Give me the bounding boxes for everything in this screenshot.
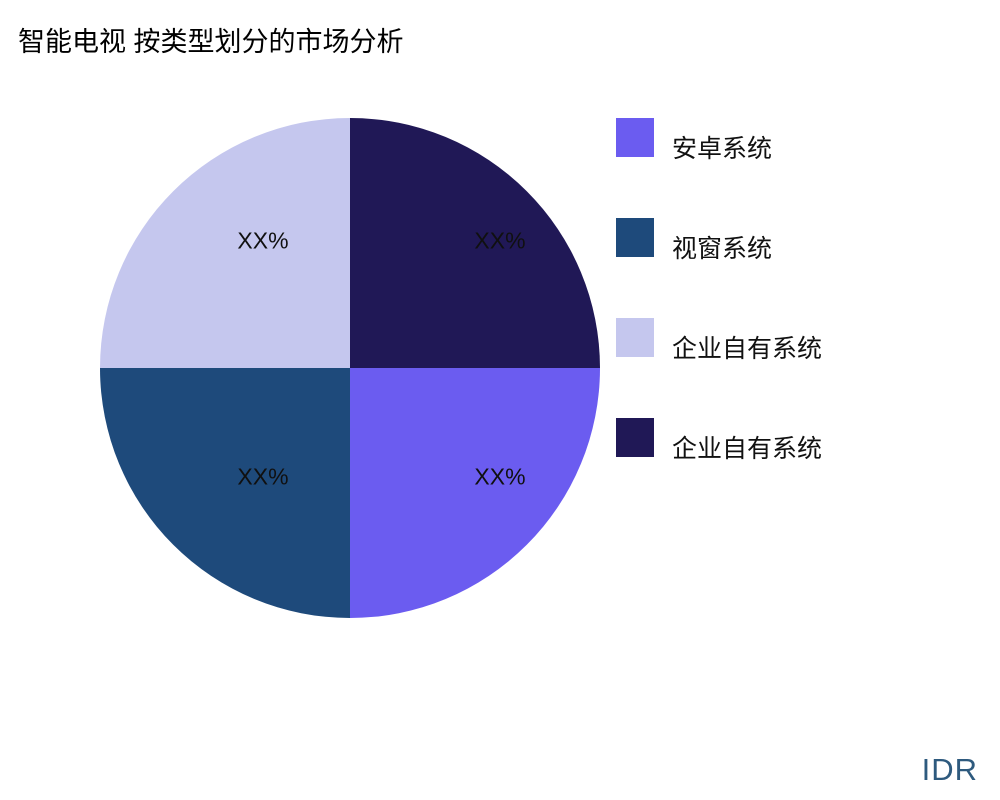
pie-slice-android[interactable]	[350, 368, 600, 618]
legend-item-windows[interactable]: 视窗系统	[616, 218, 976, 318]
page-title: 智能电视 按类型划分的市场分析	[18, 25, 404, 59]
legend-item-label: 视窗系统	[672, 237, 772, 262]
legend-item-label: 企业自有系统	[672, 337, 822, 362]
pie-slice-proprietary-light[interactable]	[100, 118, 350, 368]
legend-item-android[interactable]: 安卓系统	[616, 118, 976, 218]
legend-item-proprietary-light[interactable]: 企业自有系统	[616, 318, 976, 418]
pie-chart	[100, 118, 600, 618]
legend: 安卓系统 视窗系统 企业自有系统 企业自有系统	[616, 118, 976, 518]
legend-item-proprietary-dark[interactable]: 企业自有系统	[616, 418, 976, 518]
pie-slice-label: XX%	[474, 464, 525, 491]
pie-slice-label: XX%	[237, 228, 288, 255]
pie-slice-label: XX%	[474, 228, 525, 255]
pie-slice-windows[interactable]	[100, 368, 350, 618]
legend-swatch-icon	[616, 418, 654, 457]
legend-swatch-icon	[616, 318, 654, 357]
legend-item-label: 企业自有系统	[672, 437, 822, 462]
pie-chart-svg	[100, 118, 600, 618]
idr-watermark: IDR	[922, 752, 978, 788]
legend-item-label: 安卓系统	[672, 137, 772, 162]
legend-swatch-icon	[616, 118, 654, 157]
legend-swatch-icon	[616, 218, 654, 257]
pie-slice-label: XX%	[237, 464, 288, 491]
